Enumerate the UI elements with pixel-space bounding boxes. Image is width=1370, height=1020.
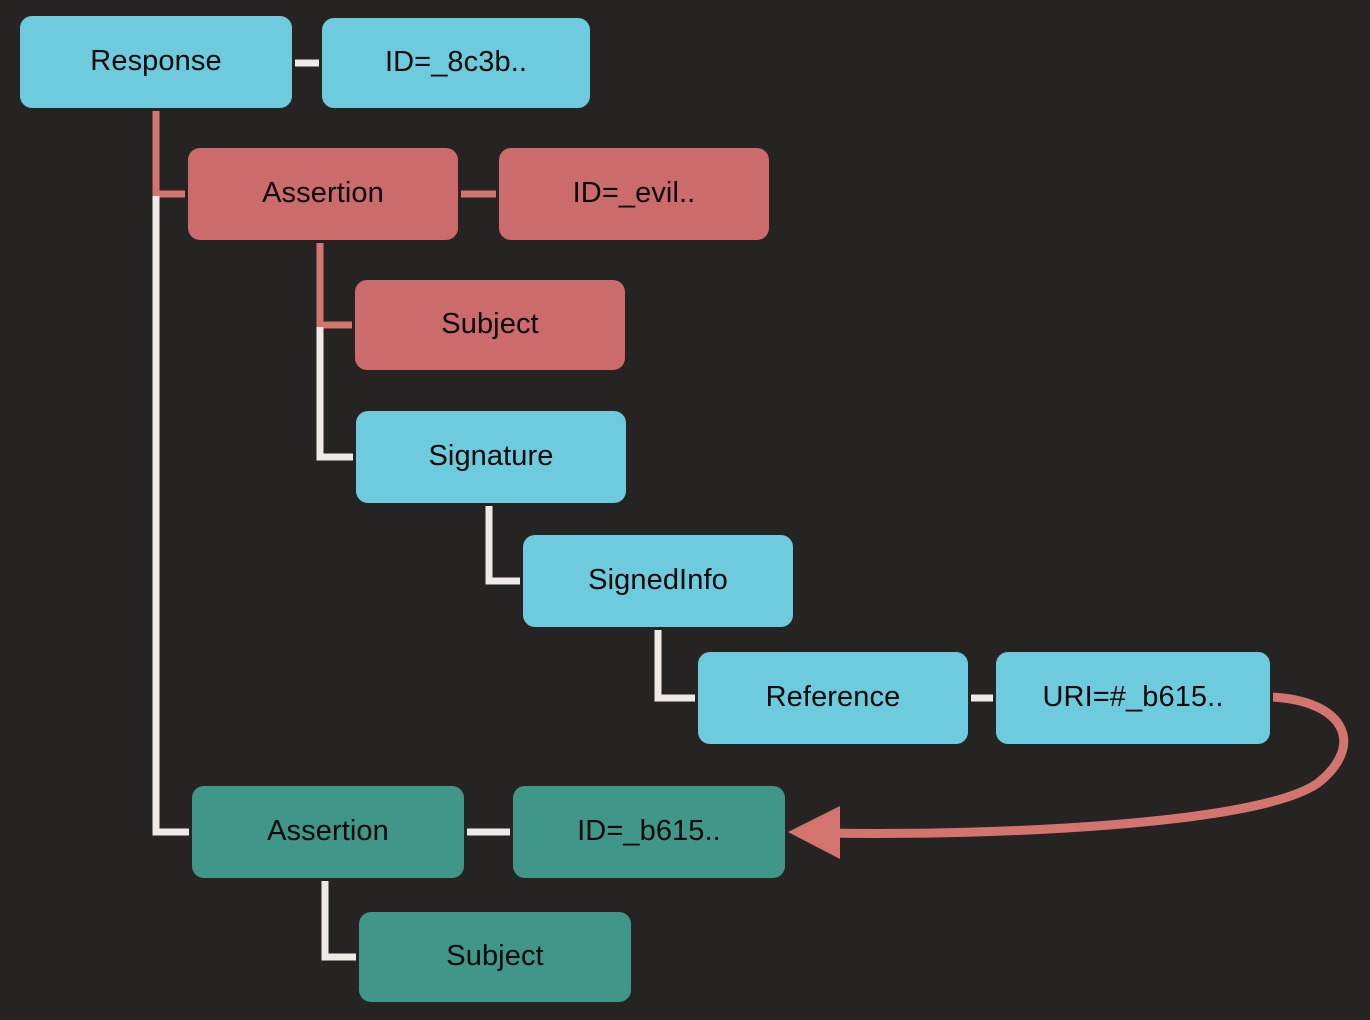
node-subject-good[interactable]: Subject xyxy=(359,912,631,1002)
edge-signedinfo-to-reference xyxy=(658,627,698,698)
node-signedinfo-label: SignedInfo xyxy=(588,566,728,597)
node-assertion-good-id-label: ID=_b615.. xyxy=(577,817,721,848)
diagram-canvas: ID=_b615.. (big red curved reference arr… xyxy=(0,0,1370,1020)
node-subject-good-label: Subject xyxy=(446,942,543,973)
node-reference-label: Reference xyxy=(766,683,901,714)
node-assertion-good[interactable]: Assertion xyxy=(192,786,464,878)
node-uri-label: URI=#_b615.. xyxy=(1043,683,1224,714)
node-signature-label: Signature xyxy=(428,442,553,473)
edge-response-to-assertion-evil xyxy=(156,108,188,194)
node-response[interactable]: Response xyxy=(20,16,292,108)
edge-signature-to-signedinfo xyxy=(489,503,523,581)
edge-assertion-evil-to-subject xyxy=(320,240,355,325)
node-assertion-evil-id-label: ID=_evil.. xyxy=(573,179,696,210)
node-assertion-evil-id[interactable]: ID=_evil.. xyxy=(499,148,769,240)
node-response-label: Response xyxy=(90,47,221,78)
node-subject-evil-label: Subject xyxy=(441,310,538,341)
node-subject-evil[interactable]: Subject xyxy=(355,280,625,370)
edge-assertion-good-to-subject xyxy=(325,878,359,957)
node-uri[interactable]: URI=#_b615.. xyxy=(996,652,1270,744)
node-signature[interactable]: Signature xyxy=(356,411,626,503)
node-assertion-good-id[interactable]: ID=_b615.. xyxy=(513,786,785,878)
node-response-id[interactable]: ID=_8c3b.. xyxy=(322,18,590,108)
edge-response-to-assertion-good xyxy=(156,196,192,832)
node-response-id-label: ID=_8c3b.. xyxy=(385,48,527,79)
node-assertion-evil-label: Assertion xyxy=(262,179,384,210)
edge-assertion-evil-to-signature xyxy=(320,327,356,457)
node-assertion-evil[interactable]: Assertion xyxy=(188,148,458,240)
node-reference[interactable]: Reference xyxy=(698,652,968,744)
node-assertion-good-label: Assertion xyxy=(267,817,389,848)
arrowhead-icon xyxy=(788,806,840,859)
node-signedinfo[interactable]: SignedInfo xyxy=(523,535,793,627)
